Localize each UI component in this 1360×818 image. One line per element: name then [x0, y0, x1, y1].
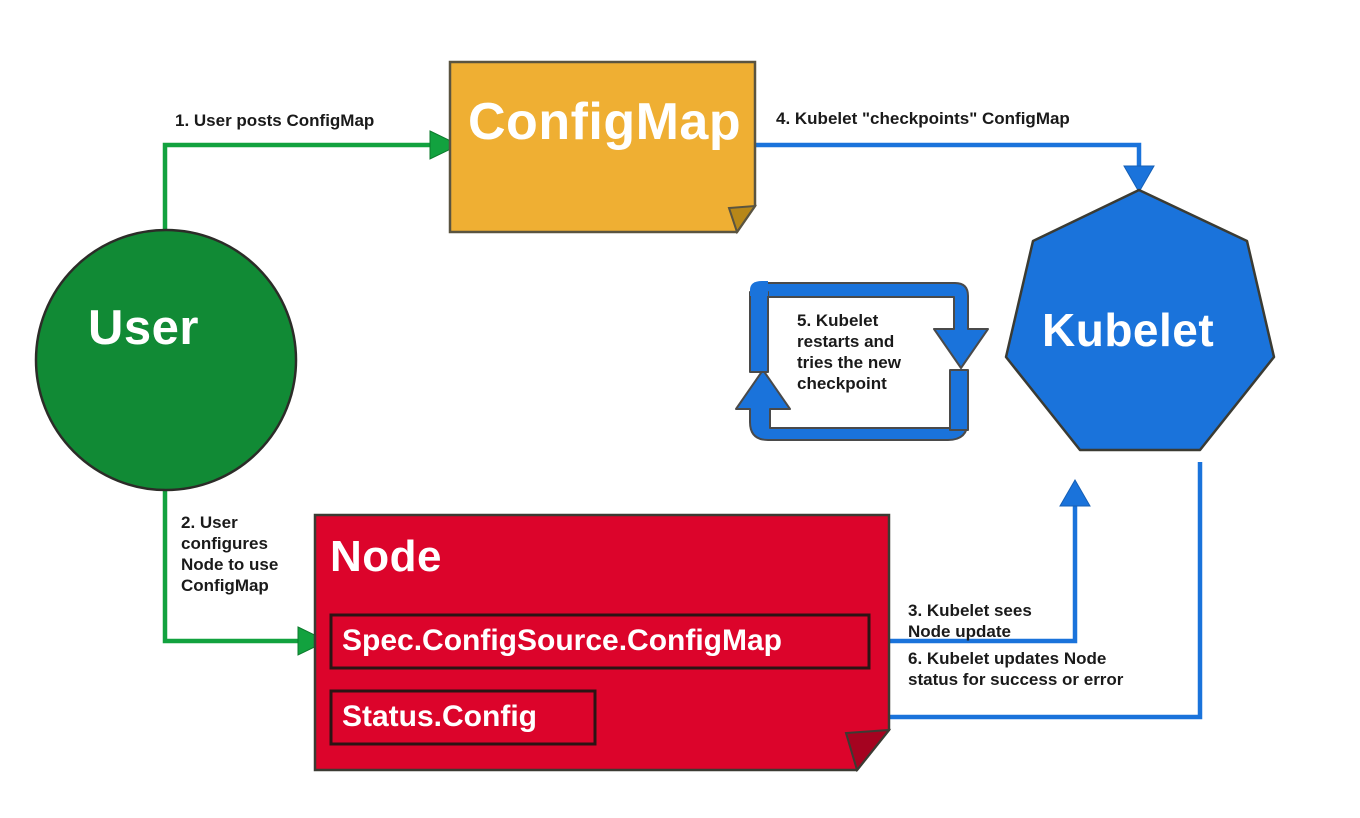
shape-configmap[interactable] [450, 62, 755, 232]
node-field-status-config[interactable]: Status.Config [342, 700, 537, 734]
edge-label-step3: 3. Kubelet sees Node update [908, 600, 1032, 642]
node-field-spec-configsource-configmap[interactable]: Spec.ConfigSource.ConfigMap [342, 624, 782, 658]
shape-kubelet[interactable] [1006, 190, 1274, 450]
edge-label-step1: 1. User posts ConfigMap [175, 110, 374, 131]
edge-label-step6: 6. Kubelet updates Node status for succe… [908, 648, 1123, 690]
shape-user[interactable] [36, 230, 296, 490]
edge-step4 [756, 145, 1154, 192]
diagram-canvas: User ConfigMap Kubelet Node Spec.ConfigS… [0, 0, 1360, 818]
edge-label-step2: 2. User configures Node to use ConfigMap [181, 512, 278, 596]
edge-label-step5: 5. Kubelet restarts and tries the new ch… [797, 310, 907, 394]
edge-label-step4: 4. Kubelet "checkpoints" ConfigMap [776, 108, 1070, 129]
